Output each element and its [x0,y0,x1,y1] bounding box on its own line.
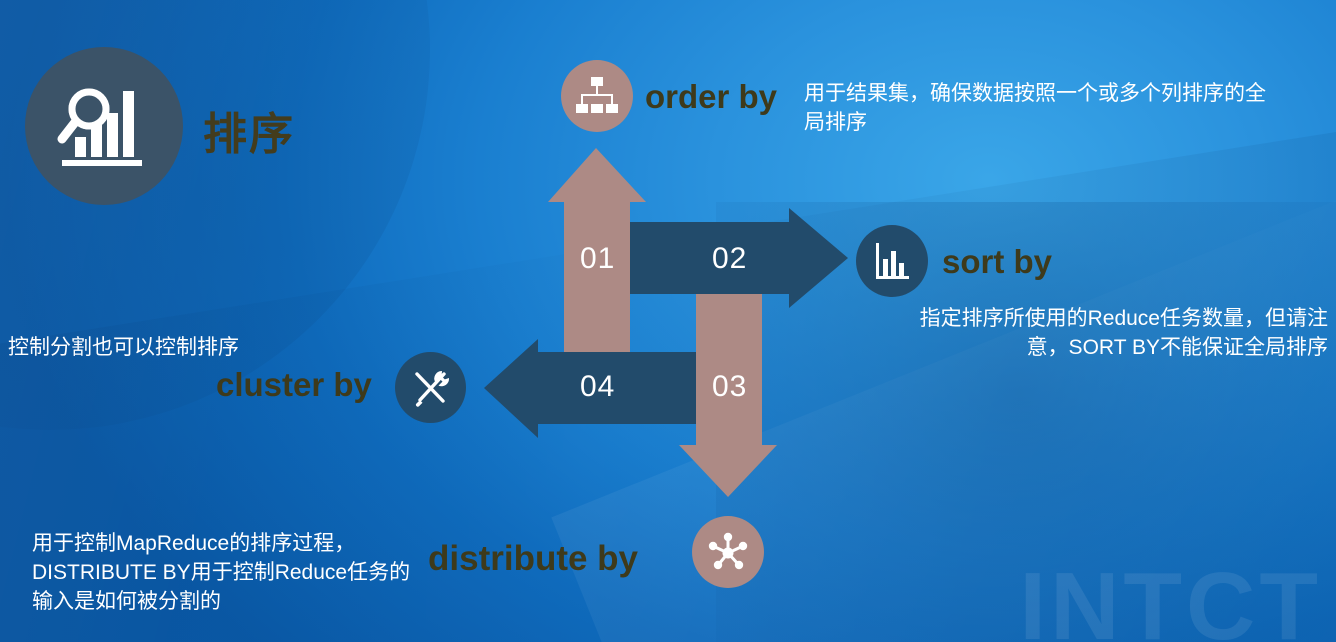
node-order-by-label: order by [645,78,777,116]
node-order-by-icon-badge[interactable] [561,60,633,132]
node-sort-by-label: sort by [942,243,1052,281]
arrow-04-number: 04 [580,370,615,404]
title-icon-badge [25,47,183,205]
chart-search-icon [54,79,154,173]
tools-icon [410,367,452,409]
arrow-03-number: 03 [712,370,747,404]
node-cluster-by-label: cluster by [216,366,372,404]
node-distribute-by-description: 用于控制MapReduce的排序过程，DISTRIBUTE BY用于控制Redu… [32,530,424,617]
hierarchy-icon [576,77,618,115]
arrow-02-number: 02 [712,242,747,276]
page-title: 排序 [203,98,295,162]
watermark-text: INTCT [1019,552,1322,642]
network-hub-icon [706,530,750,574]
bar-chart-icon [872,241,912,281]
node-distribute-by-label: distribute by [428,539,638,579]
node-cluster-by-description: 控制分割也可以控制排序 [8,334,428,363]
node-order-by-description: 用于结果集，确保数据按照一个或多个列排序的全局排序 [804,80,1278,138]
node-sort-by-description: 指定排序所使用的Reduce任务数量，但请注意，SORT BY不能保证全局排序 [900,305,1328,363]
slide-canvas: INTCT 排序 01 02 0 [0,0,1336,642]
arrow-01-number: 01 [580,242,615,276]
node-sort-by-icon-badge[interactable] [856,225,928,297]
node-distribute-by-icon-badge[interactable] [692,516,764,588]
